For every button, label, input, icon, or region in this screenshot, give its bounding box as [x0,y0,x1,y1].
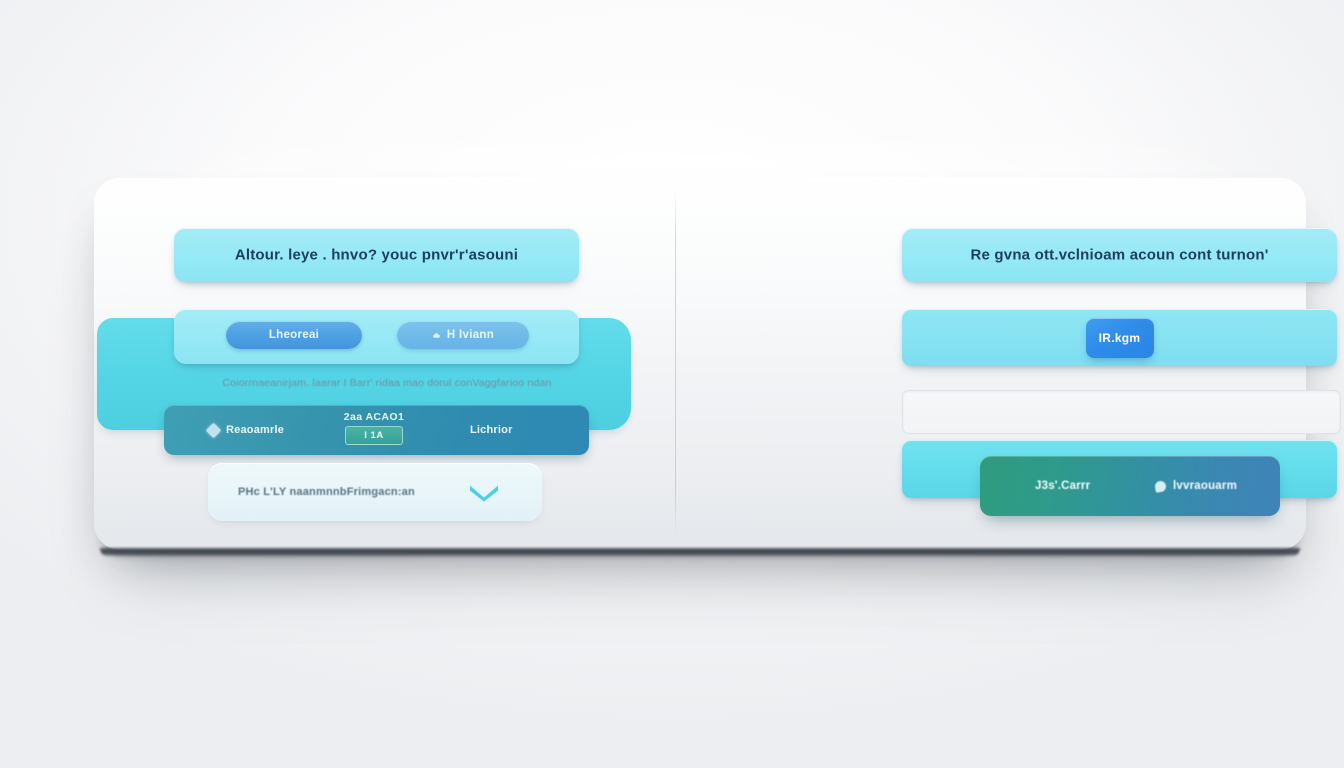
left-toolbar: Reaoamrle 2aa ACAO1 I 1A Lichrior [164,405,589,455]
toolbar-item-right-label: Lichrior [470,424,513,436]
right-chip-label: IR.kgm [1099,331,1141,345]
left-secondary-button[interactable]: H Iviann [397,321,529,349]
screen: Altour. leye . hnvo? youc pnvr'r'asouni … [0,0,1344,768]
toolbar-item-left-label: Reaoamrle [226,424,284,436]
gradient-bar-item-left-label: J3s'.Carrr [1035,480,1090,492]
right-column: Re gvna ott.vclnioam acoun cont turnon' … [676,178,1306,550]
left-headline-text: Altour. leye . hnvo? youc pnvr'r'asouni [235,247,518,264]
toolbar-item-right[interactable]: Lichrior [470,424,513,436]
toolbar-item-left[interactable]: Reaoamrle [208,424,284,436]
chevron-down-icon[interactable] [468,482,500,502]
right-headline-banner[interactable]: Re gvna ott.vclnioam acoun cont turnon' [902,228,1337,282]
left-footer-pill[interactable]: PHc L'LY naanmnnbFrimgacn:an [208,463,542,521]
gradient-bar-item-right-label: lvvraouarm [1173,480,1237,492]
left-secondary-button-label: H Iviann [447,329,494,341]
right-strip: IR.kgm [902,309,1337,366]
toolbar-center-group: 2aa ACAO1 I 1A [324,411,424,445]
left-footer-text: PHc L'LY naanmnnbFrimgacn:an [238,486,415,498]
drop-icon [1154,480,1167,493]
left-headline-banner[interactable]: Altour. leye . hnvo? youc pnvr'r'asouni [174,228,579,282]
toolbar-center-label: 2aa ACAO1 [324,411,424,423]
main-card: Altour. leye . hnvo? youc pnvr'r'asouni … [94,178,1306,550]
left-primary-button[interactable]: Lheoreai [226,321,362,349]
right-gradient-bar: J3s'.Carrr lvvraouarm [980,456,1280,516]
right-chip-button[interactable]: IR.kgm [1086,318,1154,358]
diamond-icon [206,422,222,438]
right-text-input[interactable] [902,390,1341,434]
left-primary-button-label: Lheoreai [269,329,319,341]
left-caption: Coiorrnaeanirjam. laarar I Barr' ridaa m… [207,377,567,389]
cloud-icon [432,331,441,340]
left-actions-card: Lheoreai H Iviann [174,309,579,364]
toolbar-status-badge: I 1A [345,426,403,445]
gradient-bar-item-left[interactable]: J3s'.Carrr [1035,480,1090,492]
left-column: Altour. leye . hnvo? youc pnvr'r'asouni … [94,178,675,550]
right-headline-text: Re gvna ott.vclnioam acoun cont turnon' [970,247,1268,264]
gradient-bar-item-right[interactable]: lvvraouarm [1155,480,1237,492]
